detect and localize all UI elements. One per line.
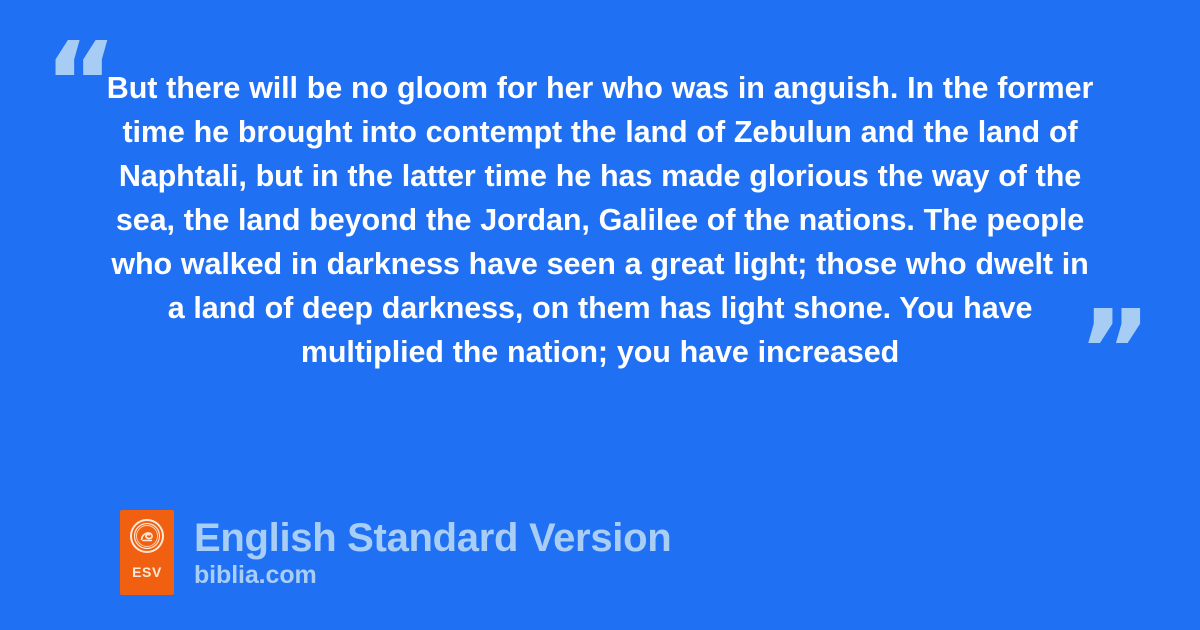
- attribution-footer: ESV English Standard Version biblia.com: [120, 510, 671, 595]
- close-quote-icon: ”: [1078, 296, 1152, 408]
- bible-version-name: English Standard Version: [194, 516, 671, 560]
- verse-text: But there will be no gloom for her who w…: [100, 66, 1100, 374]
- esv-seal-icon: [130, 519, 164, 553]
- esv-abbreviation: ESV: [132, 565, 162, 579]
- esv-logo: ESV: [120, 510, 174, 595]
- footer-text-group: English Standard Version biblia.com: [194, 516, 671, 589]
- site-url: biblia.com: [194, 561, 671, 589]
- quote-block: “ But there will be no gloom for her who…: [0, 0, 1200, 440]
- bible-verse-card: “ But there will be no gloom for her who…: [0, 0, 1200, 630]
